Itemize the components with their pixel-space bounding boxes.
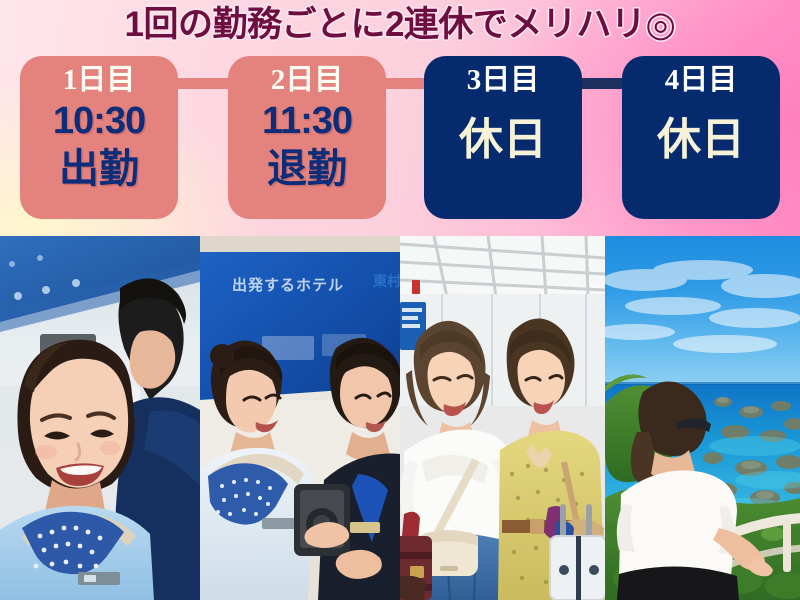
card-status-label: 休日 — [459, 116, 547, 164]
photo-ocean-view — [605, 236, 800, 600]
photo-staff-with-tablet: 出発するホテル 東村 — [200, 236, 400, 600]
photo-ground-staff-pair — [0, 236, 200, 600]
banner: 1回の勤務ごとに2連休でメリハリ◎ 1日目 10:30 出勤 2日目 11:30… — [0, 0, 800, 236]
card-day-label: 4日目 — [665, 62, 738, 98]
card-day-label: 1日目 — [63, 62, 136, 98]
page-title: 1回の勤務ごとに2連休でメリハリ◎ — [0, 3, 800, 47]
card-day-label: 3日目 — [467, 62, 540, 98]
photo-strip: 出発するホテル 東村 — [0, 236, 800, 600]
svg-text:東村: 東村 — [373, 273, 400, 289]
card-status-label: 退勤 — [267, 145, 347, 193]
card-time-value: 11:30 — [262, 99, 352, 143]
schedule-card-day1: 1日目 10:30 出勤 — [20, 56, 178, 219]
schedule-card-day3: 3日目 休日 — [424, 56, 582, 219]
card-time-value: 10:30 — [53, 99, 145, 143]
poster-root: 1回の勤務ごとに2連休でメリハリ◎ 1日目 10:30 出勤 2日目 11:30… — [0, 0, 800, 600]
schedule-card-day2: 2日目 11:30 退勤 — [228, 56, 386, 219]
svg-text:出発するホテル: 出発するホテル — [232, 276, 344, 294]
card-status-label: 休日 — [657, 116, 745, 164]
card-day-label: 2日目 — [271, 62, 344, 98]
card-status-label: 出勤 — [59, 145, 139, 193]
photo-travellers-with-suitcases — [400, 236, 605, 600]
schedule-card-day4: 4日目 休日 — [622, 56, 780, 219]
